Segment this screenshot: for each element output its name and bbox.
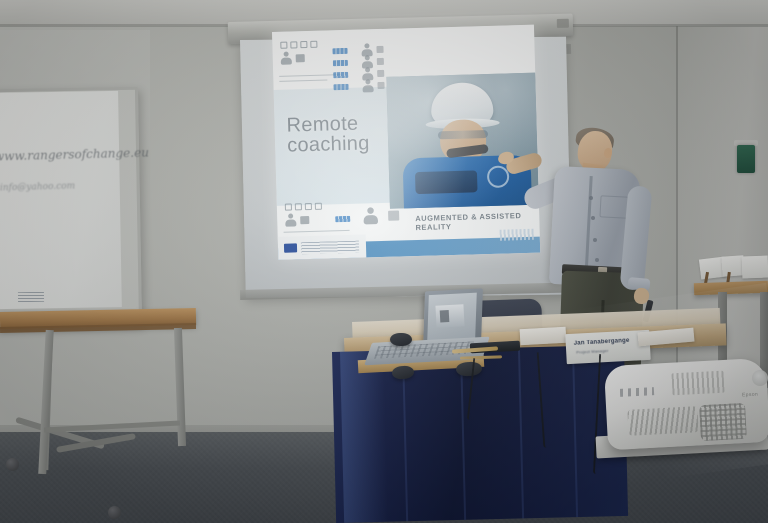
screen-hook	[566, 44, 571, 54]
slide-footer-tagline: AUGMENTED & ASSISTED REALITY	[415, 211, 539, 232]
name-card-name: Jan Tanabergange	[574, 338, 630, 347]
presentation-room-photo: Remote coaching AUGMENTED & ASSISTED REA…	[0, 0, 768, 523]
flipchart-caster-left	[6, 458, 19, 471]
slide-title: Remote coaching	[286, 113, 370, 155]
flipchart-paper	[0, 91, 122, 315]
projector-top-grill	[671, 371, 724, 396]
projector-brand-label: Epson	[742, 392, 758, 399]
slide-worker-photo	[386, 73, 539, 209]
flipchart-brand-mark	[18, 292, 44, 302]
eu-funding-text-lines	[301, 241, 359, 255]
slide-bottom-arrow	[335, 216, 350, 222]
slide-arrow-row-4	[333, 79, 384, 93]
flipchart-caster-right	[108, 506, 121, 519]
screen-casing-cap	[557, 19, 569, 28]
slide-bottom-person-pictogram	[285, 213, 309, 227]
slide-person-pictogram	[281, 51, 305, 65]
slide-bottom-icon-strip	[285, 203, 322, 211]
laptop-screen-content	[435, 304, 464, 327]
projector-vent	[627, 406, 698, 436]
presenter-shirt-pocket	[599, 195, 628, 218]
flipchart-email-text: info@yahoo.com	[0, 181, 104, 198]
projected-slide: Remote coaching AUGMENTED & ASSISTED REA…	[272, 25, 540, 260]
name-card-subtitle: Project Manager	[576, 348, 609, 355]
emergency-exit-sign	[737, 145, 755, 173]
brochure-3	[742, 256, 768, 279]
projector-side-exhaust-grill	[699, 403, 747, 441]
paper-stack	[520, 327, 567, 345]
slide-icon-strip	[280, 41, 317, 49]
mouse-on-desk[interactable]	[390, 333, 412, 346]
flipchart-url-text: www.rangersofchange.eu	[0, 146, 112, 165]
eu-flag-icon	[284, 243, 297, 252]
slide-bottom-target-pictogram	[365, 209, 399, 223]
right-table-top	[694, 281, 768, 296]
slide-corner-tick-marks	[500, 229, 534, 241]
slide-title-line-2: coaching	[287, 133, 370, 155]
projector-lens	[752, 370, 768, 386]
